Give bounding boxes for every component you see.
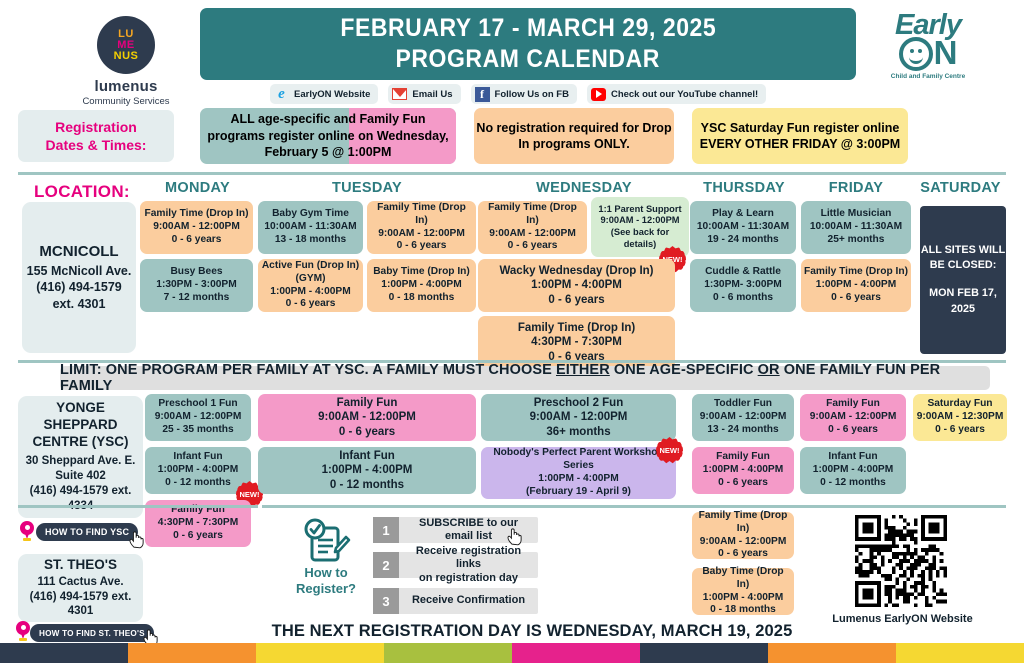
day-header-monday: MONDAY xyxy=(140,180,255,196)
title-banner: FEBRUARY 17 - MARCH 29, 2025 PROGRAM CAL… xyxy=(200,8,856,80)
map-pin-icon xyxy=(20,521,34,541)
registration-dates-title-text: RegistrationDates & Times: xyxy=(46,118,147,155)
day-header-thursday: THURSDAY xyxy=(690,180,798,196)
social-links-row: e EarlyON Website Email Us f Follow Us o… xyxy=(270,84,766,104)
program-card[interactable]: Family Time (Drop In) 9:00AM - 12:00PM 0… xyxy=(478,201,587,254)
lumenus-me: ME xyxy=(117,40,135,51)
divider-top xyxy=(18,172,1006,175)
youtube-link[interactable]: Check out our YouTube channel! xyxy=(587,84,766,104)
email-us-label: Email Us xyxy=(412,89,452,100)
gmail-icon xyxy=(392,87,407,102)
youtube-label: Check out our YouTube channel! xyxy=(611,89,758,100)
registration-notice-3: YSC Saturday Fun register online EVERY O… xyxy=(692,108,908,164)
program-card[interactable]: Busy Bees 1:30PM - 3:00PM 7 - 12 months xyxy=(140,259,253,312)
how-to-find-sttheos-label: HOW TO FIND ST. THEO'S xyxy=(39,629,145,638)
registration-dates-title: RegistrationDates & Times: xyxy=(18,110,174,162)
divider-mid-2b xyxy=(262,505,1006,508)
strip-segment xyxy=(896,643,1024,663)
lumenus-wordmark: lumenus xyxy=(68,78,184,95)
facebook-link[interactable]: f Follow Us on FB xyxy=(471,84,577,104)
program-card[interactable]: Baby Gym Time 10:00AM - 11:30AM 13 - 18 … xyxy=(258,201,363,254)
lumenus-nus: NUS xyxy=(114,51,139,62)
earlyon-early-text: Early xyxy=(874,12,982,40)
program-card[interactable]: Infant Fun 1:00PM - 4:00PM 0 - 12 months xyxy=(145,447,251,494)
program-card[interactable]: Cuddle & Rattle 1:30PM- 3:00PM 0 - 6 mon… xyxy=(690,259,796,312)
bottom-color-strip xyxy=(0,643,1024,663)
day-header-tuesday: TUESDAY xyxy=(258,180,476,196)
register-step-3: 3 Receive Confirmation xyxy=(373,588,538,614)
strip-segment xyxy=(512,643,640,663)
earlyon-website-label: EarlyON Website xyxy=(294,89,370,100)
location-address-sttheos: 111 Cactus Ave.(416) 494-1579 ext.4301 xyxy=(30,575,132,620)
program-card[interactable]: Little Musician 10:00AM - 11:30AM 25+ mo… xyxy=(801,201,911,254)
program-card[interactable]: Family Time (Drop In) 9:00AM - 12:00PM 0… xyxy=(692,512,794,559)
youtube-icon xyxy=(591,87,606,102)
register-step-2: 2 Receive registration linkson registrat… xyxy=(373,552,538,578)
registration-notice-1-text: ALL age-specific and Family Fun programs… xyxy=(200,111,456,161)
internet-explorer-icon: e xyxy=(274,87,289,102)
program-card[interactable]: Toddler Fun 9:00AM - 12:00PM 13 - 24 mon… xyxy=(692,394,794,441)
qr-code[interactable] xyxy=(855,515,947,607)
program-card[interactable]: Infant Fun 1:00PM - 4:00PM 0 - 12 months xyxy=(800,447,906,494)
divider-mid-2a xyxy=(18,505,258,508)
step-number: 1 xyxy=(373,517,399,543)
location-name-mcnicoll: MCNICOLL xyxy=(39,243,118,260)
program-card[interactable]: Family Time (Drop In) 9:00AM - 12:00PM 0… xyxy=(140,201,253,254)
program-card[interactable]: Active Fun (Drop In) (GYM) 1:00PM - 4:00… xyxy=(258,259,363,312)
program-card[interactable]: Play & Learn 10:00AM - 11:30AM 19 - 24 m… xyxy=(690,201,796,254)
registration-notice-3-text: YSC Saturday Fun register online EVERY O… xyxy=(692,120,908,153)
strip-segment xyxy=(256,643,384,663)
earlyon-tagline: Child and Family Centre xyxy=(874,73,982,80)
step-text: Receive Confirmation xyxy=(399,594,538,607)
registration-notice-2-text: No registration required for Drop In pro… xyxy=(474,120,674,153)
facebook-label: Follow Us on FB xyxy=(495,89,569,100)
step-number: 3 xyxy=(373,588,399,614)
program-card[interactable]: Preschool 2 Fun 9:00AM - 12:00PM 36+ mon… xyxy=(481,394,676,441)
qr-code-label: Lumenus EarlyON Website xyxy=(820,613,985,625)
program-card[interactable]: Baby Time (Drop In) 1:00PM - 4:00PM 0 - … xyxy=(367,259,476,312)
location-card-sttheos: ST. THEO'S 111 Cactus Ave.(416) 494-1579… xyxy=(18,554,143,622)
registration-notice-2: No registration required for Drop In pro… xyxy=(474,108,674,164)
day-header-wednesday: WEDNESDAY xyxy=(478,180,690,196)
earlyon-smiley-icon xyxy=(899,37,933,71)
map-pin-icon xyxy=(16,621,30,641)
step-text: Receive registration linkson registratio… xyxy=(399,545,538,585)
email-us-link[interactable]: Email Us xyxy=(388,84,460,104)
program-card[interactable]: Nobody's Perfect Parent Workshop Series … xyxy=(481,447,676,499)
new-badge: NEW! xyxy=(656,437,683,464)
program-card[interactable]: Wacky Wednesday (Drop In) 1:00PM - 4:00P… xyxy=(478,259,675,312)
program-card[interactable]: Family Fun 1:00PM - 4:00PM 0 - 6 years xyxy=(692,447,794,494)
strip-segment xyxy=(384,643,512,663)
earlyon-website-link[interactable]: e EarlyON Website xyxy=(270,84,378,104)
strip-segment xyxy=(0,643,128,663)
closed-notice: ALL SITES WILL BE CLOSED: MON FEB 17, 20… xyxy=(920,206,1006,354)
program-card[interactable]: Baby Time (Drop In) 1:00PM - 4:00PM 0 - … xyxy=(692,568,794,615)
program-card[interactable]: Family Fun 9:00AM - 12:00PM 0 - 6 years xyxy=(258,394,476,441)
earlyon-n-text: N xyxy=(934,40,958,66)
location-name-ysc: YONGE SHEPPARDCENTRE (YSC) xyxy=(22,400,139,451)
program-calendar-page: LU ME NUS lumenus Community Services FEB… xyxy=(0,0,1024,663)
lumenus-lu: LU xyxy=(118,29,134,40)
day-header-saturday: SATURDAY xyxy=(913,180,1008,196)
location-column-header: LOCATION: xyxy=(20,182,155,202)
program-card[interactable]: Family Fun 9:00AM - 12:00PM 0 - 6 years xyxy=(800,394,906,441)
location-address-mcnicoll: 155 McNicoll Ave.(416) 494-1579ext. 4301 xyxy=(27,263,132,312)
program-card[interactable]: Family Time (Drop In) 9:00AM - 12:00PM 0… xyxy=(367,201,476,254)
registration-banner-row: RegistrationDates & Times: ALL age-speci… xyxy=(0,108,1024,164)
how-to-find-ysc-label: HOW TO FIND YSC xyxy=(45,527,129,537)
clipboard-pencil-icon xyxy=(300,518,352,566)
earlyon-logo: Early N Child and Family Centre xyxy=(874,12,982,80)
registration-notice-1: ALL age-specific and Family Fun programs… xyxy=(200,108,456,164)
location-card-mcnicoll: MCNICOLL 155 McNicoll Ave.(416) 494-1579… xyxy=(22,202,136,353)
page-title: PROGRAM CALENDAR xyxy=(396,45,660,74)
cursor-hand-icon xyxy=(506,527,523,546)
strip-segment xyxy=(640,643,768,663)
location-card-ysc: YONGE SHEPPARDCENTRE (YSC) 30 Sheppard A… xyxy=(18,396,143,518)
how-to-register-label: How toRegister? xyxy=(288,565,364,597)
program-card[interactable]: Saturday Fun 9:00AM - 12:30PM 0 - 6 year… xyxy=(913,394,1007,441)
limit-banner-text: LIMIT: ONE PROGRAM PER FAMILY AT YSC. A … xyxy=(60,362,990,394)
strip-segment xyxy=(128,643,256,663)
lumenus-mark-icon: LU ME NUS xyxy=(97,16,155,74)
how-to-find-sttheos-button[interactable]: HOW TO FIND ST. THEO'S xyxy=(30,624,154,642)
limit-banner: LIMIT: ONE PROGRAM PER FAMILY AT YSC. A … xyxy=(60,366,990,390)
lumenus-tagline: Community Services xyxy=(68,96,184,107)
location-name-sttheos: ST. THEO'S xyxy=(44,557,117,572)
lumenus-logo: LU ME NUS lumenus Community Services xyxy=(68,16,184,107)
program-card[interactable]: Infant Fun 1:00PM - 4:00PM 0 - 12 months xyxy=(258,447,476,494)
program-card[interactable]: Preschool 1 Fun 9:00AM - 12:00PM 25 - 35… xyxy=(145,394,251,441)
program-card[interactable]: Family Time (Drop In) 1:00PM - 4:00PM 0 … xyxy=(801,259,911,312)
facebook-icon: f xyxy=(475,87,490,102)
day-header-friday: FRIDAY xyxy=(800,180,912,196)
step-number: 2 xyxy=(373,552,399,578)
cursor-hand-icon xyxy=(128,530,145,549)
next-registration-day: THE NEXT REGISTRATION DAY IS WEDNESDAY, … xyxy=(262,622,802,641)
how-to-find-ysc-button[interactable]: HOW TO FIND YSC xyxy=(36,523,138,541)
strip-segment xyxy=(768,643,896,663)
calendar-date-range: FEBRUARY 17 - MARCH 29, 2025 xyxy=(340,14,716,43)
